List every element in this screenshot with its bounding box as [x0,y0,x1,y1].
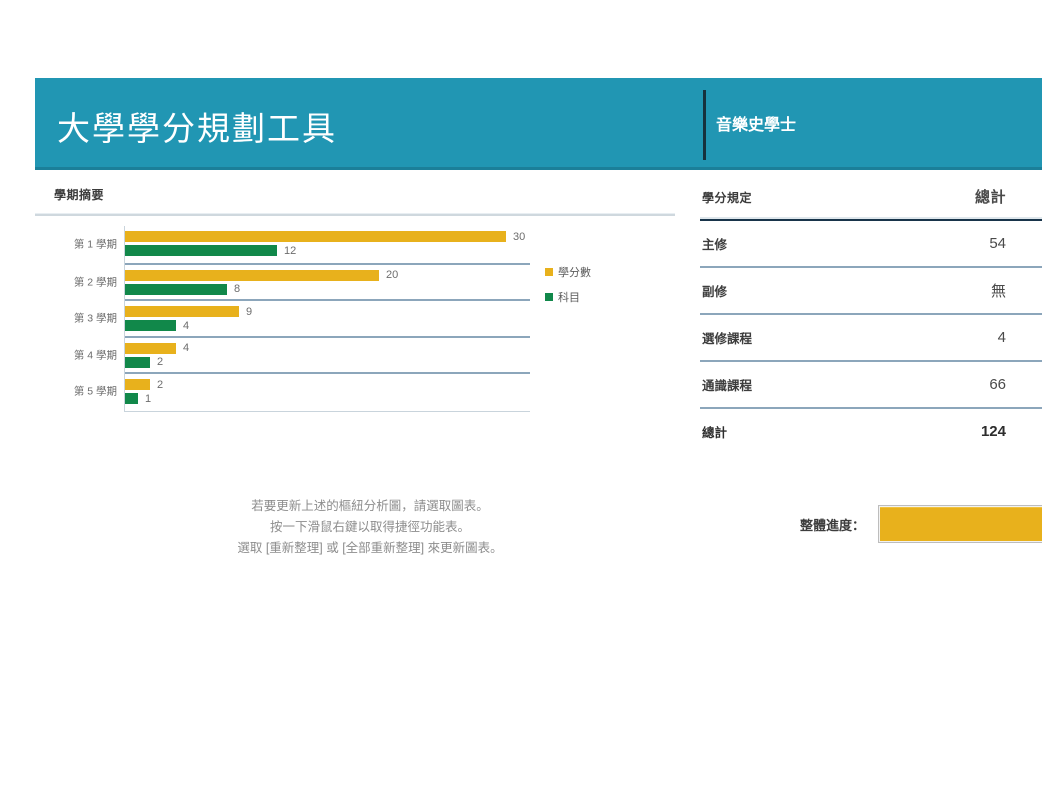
semester-summary-section: 學期摘要 [35,178,675,216]
chart-bar-value: 12 [284,245,296,257]
chart-bar-value: 4 [183,320,189,332]
section-divider [35,213,675,216]
chart-category-label: 第 3 學期 [74,311,117,326]
page-title: 大學學分規劃工具 [57,102,337,150]
requirement-label: 主修 [702,234,727,253]
requirement-value: 無 [991,280,1038,301]
chart-bar-value: 2 [157,379,163,391]
chart-bar[interactable] [125,231,506,242]
header-banner: 大學學分規劃工具 音樂史學士 [35,78,1042,170]
chart-category-group: 第 5 學期21 [125,372,530,409]
table-row: 副修無 [700,268,1042,315]
chart-bar-value: 1 [145,393,151,405]
overall-progress: 整體進度： [800,505,1042,543]
requirements-header-label: 學分規定 [702,189,752,206]
chart-bar-value: 30 [513,231,525,243]
chart-category-group: 第 4 學期42 [125,336,530,373]
requirements-header-total: 總計 [975,186,1038,207]
legend-swatch-icon [545,268,553,276]
chart-bar-value: 2 [157,356,163,368]
requirement-label: 通識課程 [702,375,752,394]
semester-bar-chart[interactable]: 第 1 學期3012第 2 學期208第 3 學期94第 4 學期42第 5 學… [35,226,675,421]
instruction-line-2: 按一下滑鼠右鍵以取得捷徑功能表。 [110,517,630,538]
chart-bar[interactable] [125,270,379,281]
requirement-value: 54 [989,235,1038,252]
chart-bar-row[interactable]: 4 [125,343,189,354]
instruction-line-1: 若要更新上述的樞紐分析圖，請選取圖表。 [110,496,630,517]
instruction-line-3: 選取 [重新整理] 或 [全部重新整理] 來更新圖表。 [110,538,630,559]
requirement-label: 選修課程 [702,328,752,347]
chart-category-label: 第 1 學期 [74,237,117,252]
chart-bar-row[interactable]: 9 [125,306,252,317]
chart-bar-row[interactable]: 1 [125,393,151,404]
table-row: 選修課程4 [700,315,1042,362]
chart-bar-value: 9 [246,306,252,318]
requirements-header: 學分規定 總計 [700,178,1042,217]
table-row: 主修54 [700,221,1042,268]
chart-category-label: 第 2 學期 [74,274,117,289]
chart-bar[interactable] [125,343,176,354]
requirement-value: 4 [998,329,1038,346]
overall-progress-label: 整體進度： [800,515,865,534]
chart-bar-row[interactable]: 12 [125,245,296,256]
chart-category-group: 第 1 學期3012 [125,226,530,263]
legend-item[interactable]: 學分數 [545,264,665,280]
chart-bar-row[interactable]: 4 [125,320,189,331]
overall-progress-fill [880,507,1042,541]
legend-label: 科目 [558,289,580,305]
table-row: 總計124 [700,409,1042,454]
chart-bar-value: 4 [183,342,189,354]
table-row: 通識課程66 [700,362,1042,409]
chart-bar[interactable] [125,284,227,295]
chart-bar[interactable] [125,379,150,390]
chart-bar-row[interactable]: 20 [125,270,398,281]
chart-bar[interactable] [125,306,239,317]
chart-bar-row[interactable]: 30 [125,231,525,242]
header-divider [703,90,706,160]
requirement-label: 總計 [702,422,727,441]
chart-category-label: 第 4 學期 [74,347,117,362]
legend-label: 學分數 [558,264,591,280]
legend-item[interactable]: 科目 [545,289,665,305]
requirement-label: 副修 [702,281,727,300]
chart-bar[interactable] [125,245,277,256]
chart-bar-value: 8 [234,283,240,295]
chart-bar[interactable] [125,357,150,368]
chart-bar[interactable] [125,320,176,331]
chart-bar-row[interactable]: 8 [125,284,240,295]
overall-progress-bar[interactable] [878,505,1042,543]
degree-name[interactable]: 音樂史學士 [716,111,796,135]
requirement-value: 124 [981,423,1038,440]
chart-bar-value: 20 [386,269,398,281]
legend-swatch-icon [545,293,553,301]
credit-requirements-panel: 學分規定 總計 主修54副修無選修課程4通識課程66總計124 [700,178,1042,454]
chart-category-label: 第 5 學期 [74,384,117,399]
chart-bar-row[interactable]: 2 [125,357,163,368]
chart-category-group: 第 2 學期208 [125,263,530,300]
semester-summary-heading: 學期摘要 [35,178,675,213]
chart-plot-area[interactable]: 第 1 學期3012第 2 學期208第 3 學期94第 4 學期42第 5 學… [124,226,530,412]
chart-category-group: 第 3 學期94 [125,299,530,336]
chart-bar[interactable] [125,393,138,404]
chart-instructions: 若要更新上述的樞紐分析圖，請選取圖表。 按一下滑鼠右鍵以取得捷徑功能表。 選取 … [110,496,630,559]
chart-legend[interactable]: 學分數科目 [545,264,665,314]
chart-bar-row[interactable]: 2 [125,379,163,390]
requirements-rows: 主修54副修無選修課程4通識課程66總計124 [700,221,1042,454]
requirement-value: 66 [989,376,1038,393]
